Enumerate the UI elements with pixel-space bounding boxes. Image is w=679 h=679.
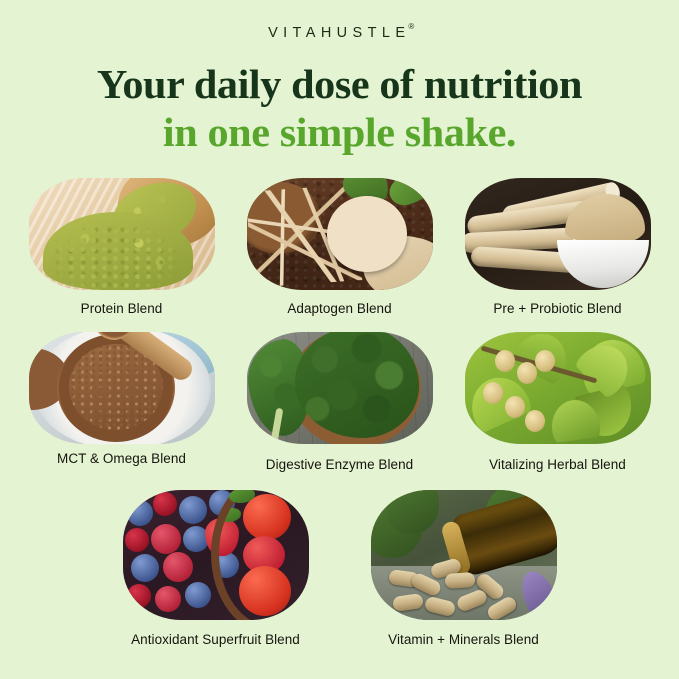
blend-card-vitamin-minerals[interactable]: Vitamin + Minerals Blend [371, 490, 557, 647]
brand-name: VITAHUSTLE [268, 25, 410, 41]
blend-card-digestive-enzyme[interactable]: Digestive Enzyme Blend [247, 332, 433, 472]
blend-label: MCT & Omega Blend [57, 451, 186, 466]
blend-label: Vitalizing Herbal Blend [489, 457, 626, 472]
blend-label: Protein Blend [81, 301, 163, 316]
blend-card-antioxidant-superfruit[interactable]: Antioxidant Superfruit Blend [123, 490, 309, 647]
vitalizing-herbal-blend-image [465, 332, 651, 444]
blend-row-3: Antioxidant Superfruit Blend [0, 490, 679, 647]
blend-label: Digestive Enzyme Blend [266, 457, 413, 472]
digestive-enzyme-blend-image [247, 332, 433, 444]
blend-card-vitalizing-herbal[interactable]: Vitalizing Herbal Blend [465, 332, 651, 472]
blend-row-1: Protein Blend Adaptogen Blend [0, 178, 679, 316]
blend-card-pre-probiotic[interactable]: Pre + Probiotic Blend [465, 178, 651, 316]
blend-row-2: MCT & Omega Blend Digestive Enzyme Blend [0, 332, 679, 472]
blend-card-adaptogen[interactable]: Adaptogen Blend [247, 178, 433, 316]
pre-probiotic-blend-image [465, 178, 651, 290]
headline-line-2: in one simple shake. [0, 112, 679, 153]
adaptogen-blend-image [247, 178, 433, 290]
antioxidant-superfruit-blend-image [123, 490, 309, 620]
blend-label: Vitamin + Minerals Blend [388, 632, 539, 647]
registered-trademark-icon: ® [408, 22, 414, 31]
blend-card-mct-omega[interactable]: MCT & Omega Blend [29, 332, 215, 472]
headline-line-1: Your daily dose of nutrition [0, 64, 679, 105]
blend-label: Adaptogen Blend [287, 301, 391, 316]
blend-label: Antioxidant Superfruit Blend [131, 632, 300, 647]
product-infographic: VITAHUSTLE® Your daily dose of nutrition… [0, 0, 679, 679]
vitamin-minerals-blend-image [371, 490, 557, 620]
page-title: Your daily dose of nutrition in one simp… [0, 64, 679, 153]
brand-wordmark: VITAHUSTLE® [0, 24, 679, 41]
mct-omega-blend-image [29, 332, 215, 444]
blend-label: Pre + Probiotic Blend [493, 301, 621, 316]
protein-blend-image [29, 178, 215, 290]
blend-grid: Protein Blend Adaptogen Blend [0, 178, 679, 647]
blend-card-protein[interactable]: Protein Blend [29, 178, 215, 316]
